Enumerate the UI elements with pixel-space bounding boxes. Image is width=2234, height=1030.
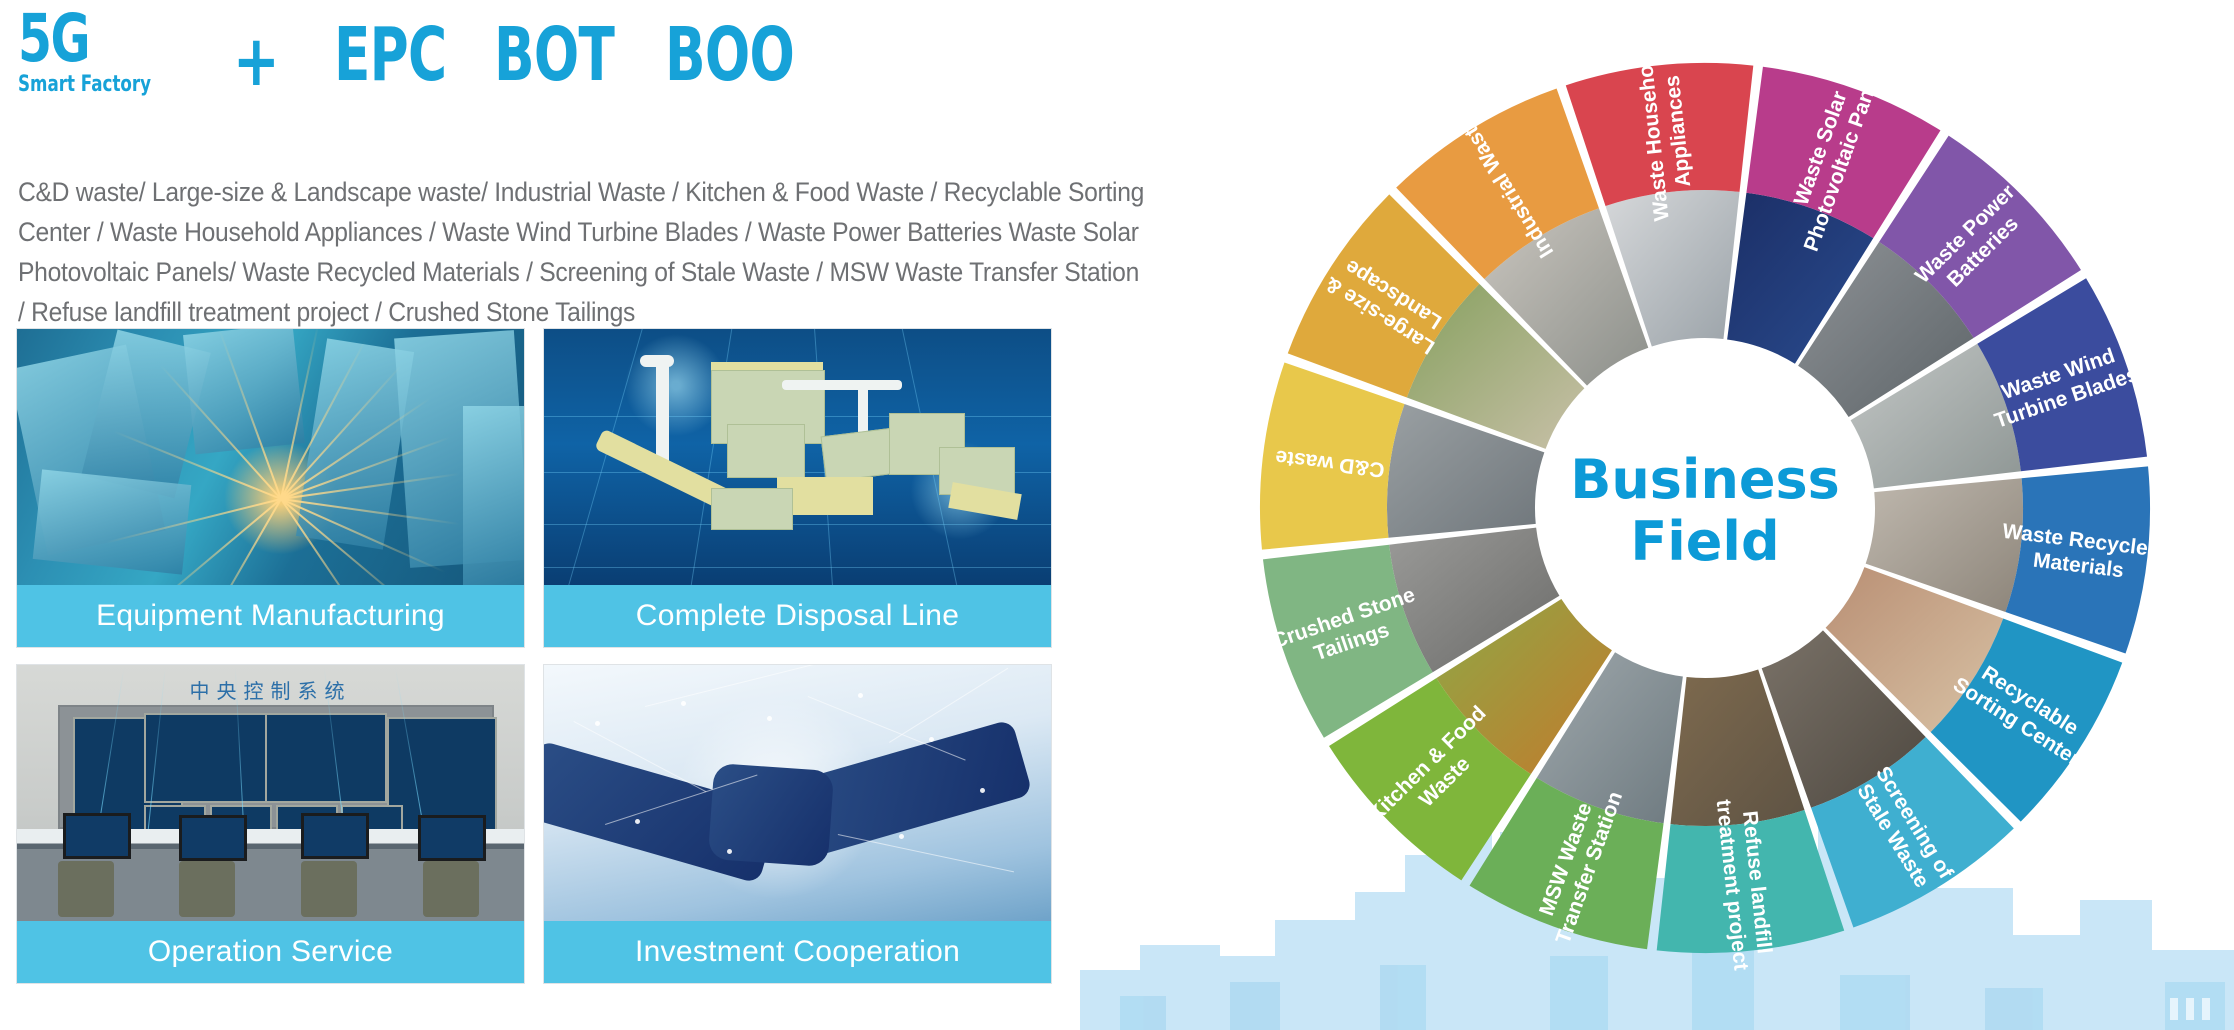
card-row-bottom: 中央控制系统 [16,664,1052,984]
infographic-root: 5G Smart Factory + EPC BOT BOO C&D waste… [0,0,2234,1030]
five-g-label: 5G [18,8,89,70]
welding-robots-photo [17,329,524,585]
card-operation-service[interactable]: 中央控制系统 [16,664,525,984]
card-investment-cooperation[interactable]: Investment Cooperation [543,664,1052,984]
business-scope-paragraph: C&D waste/ Large-size & Landscape waste/… [18,172,1148,332]
handshake-photo [544,665,1051,921]
card-complete-disposal-line[interactable]: Complete Disposal Line [543,328,1052,648]
central-control-room-photo: 中央控制系统 [17,665,524,921]
delivery-models-row: EPC BOT BOO [334,18,848,92]
five-g-block: 5G Smart Factory [18,8,193,97]
card-caption: Investment Cooperation [544,921,1051,983]
card-caption: Equipment Manufacturing [17,585,524,647]
model-epc: EPC [334,18,446,92]
plus-sign: + [233,20,280,102]
model-boo: BOO [665,18,794,92]
model-bot: BOT [494,18,614,92]
wheel-hub-hub-line1: Business [1570,448,1840,511]
card-caption: Operation Service [17,921,524,983]
smart-factory-label: Smart Factory [18,72,151,97]
card-equipment-manufacturing[interactable]: Equipment Manufacturing [16,328,525,648]
disposal-line-render [544,329,1051,585]
control-room-overlay-text: 中央控制系统 [17,675,524,704]
wheel-hub-hub-line2: Field [1630,510,1779,573]
capability-cards: Equipment Manufacturing [16,328,1052,1000]
card-row-top: Equipment Manufacturing [16,328,1052,648]
business-field-wheel: C&D wasteLarge-size &LandscapeIndustrial… [1205,28,2205,1008]
card-caption: Complete Disposal Line [544,585,1051,647]
header-logo-row: 5G Smart Factory + EPC BOT BOO [18,8,848,102]
